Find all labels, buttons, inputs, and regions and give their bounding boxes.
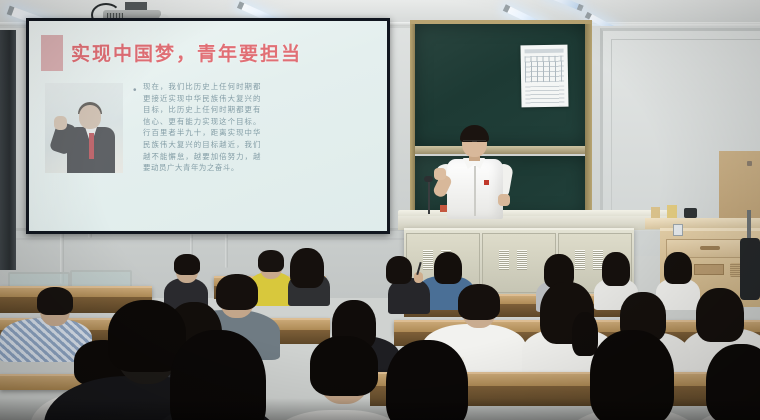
classroom-photo: 实现中国梦，青年要担当 • 现在，我们比历史上任何时期都更接近实现中华民族伟大复… [0,0,760,420]
slide-photo [45,83,123,173]
posted-notice-paper [520,45,568,108]
slide-title: 实现中国梦，青年要担当 [71,39,371,66]
classroom-door-panel[interactable] [600,28,760,231]
shelf-item-2 [667,205,677,218]
wall-switch-panel[interactable] [673,224,683,236]
lecturer [432,128,516,220]
glasses-icon [463,140,486,146]
projection-screen[interactable]: 实现中国梦，青年要担当 • 现在，我们比历史上任何时期都更接近实现中华民族伟大复… [26,18,390,234]
office-chair [740,238,760,300]
window-curtain [0,30,16,270]
slide-accent-block [41,35,63,71]
shelf-item-1 [651,207,660,218]
shelf-device [684,208,697,218]
foreground-shadow [0,398,760,420]
microphone-stand [428,180,430,214]
slide-bullet-marker: • [133,85,143,96]
slide-body-text: 现在，我们比历史上任何时期都更接近实现中华民族伟大复兴的目标，比历史上任何时期都… [143,81,261,174]
shirt-badge [484,180,489,185]
